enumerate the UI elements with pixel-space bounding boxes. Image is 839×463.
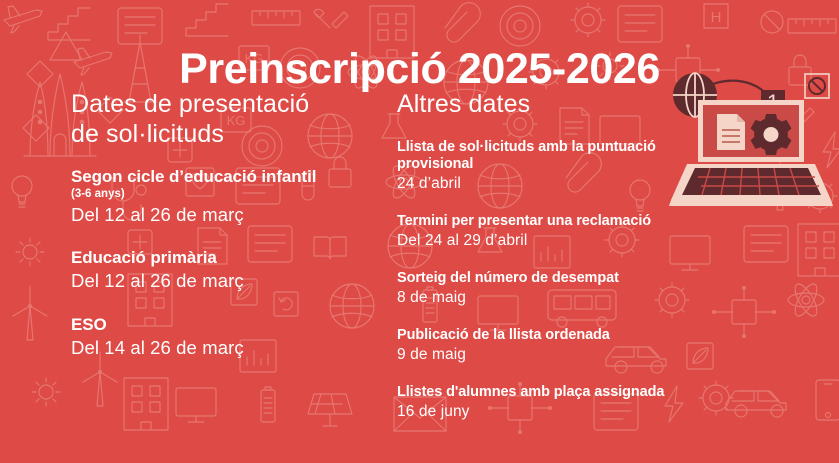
entry-title: Termini per presentar una reclamació (397, 213, 697, 230)
entry-title: ESO (71, 315, 391, 335)
entry-title: Publicació de la llista ordenada (397, 327, 697, 344)
left-column-heading: Dates de presentació de sol·licituds (71, 90, 311, 149)
entry-title: Segon cicle d’educació infantil (71, 167, 391, 187)
entry-date: Del 14 al 26 de març (71, 337, 391, 360)
entry-date: 9 de maig (397, 346, 697, 365)
entry-subtitle: (3-6 anys) (71, 188, 391, 202)
no-entry-icon (805, 74, 829, 98)
entry-title: Sorteig del número de desempat (397, 270, 697, 287)
date-entry: Llista de sol·licituds amb la puntuació … (397, 139, 697, 194)
entry-title: Llistes d'alumnes amb plaça assignada (397, 384, 697, 401)
date-entry: Educació primària Del 12 al 26 de març (71, 248, 391, 293)
document-icon (717, 114, 745, 150)
entry-date: 24 d’abril (397, 175, 697, 194)
right-column-heading: Altres dates (397, 90, 697, 120)
entry-title: Llista de sol·licituds amb la puntuació … (397, 139, 697, 173)
date-entry: Segon cicle d’educació infantil (3-6 any… (71, 167, 391, 226)
entry-date: Del 24 al 29 d’abril (397, 232, 697, 251)
laptop-base (669, 164, 833, 206)
right-column: Altres dates Llista de sol·licituds amb … (397, 90, 697, 441)
entry-date: Del 12 al 26 de març (71, 204, 391, 227)
date-entry: ESO Del 14 al 26 de març (71, 315, 391, 360)
left-column: Dates de presentació de sol·licituds Seg… (71, 90, 391, 382)
entry-date: 8 de maig (397, 289, 697, 308)
laptop-illustration: 1 (665, 68, 839, 210)
entry-title: Educació primària (71, 248, 391, 268)
date-entry: Termini per presentar una reclamació Del… (397, 213, 697, 251)
date-entry: Sorteig del número de desempat 8 de maig (397, 270, 697, 308)
poster-canvas: KG H (0, 0, 839, 463)
footer: Generalitat de Catalunya Tothom (0, 405, 839, 463)
entry-date: Del 12 al 26 de març (71, 270, 391, 293)
date-entry: Publicació de la llista ordenada 9 de ma… (397, 327, 697, 365)
laptop-screen (698, 100, 804, 162)
